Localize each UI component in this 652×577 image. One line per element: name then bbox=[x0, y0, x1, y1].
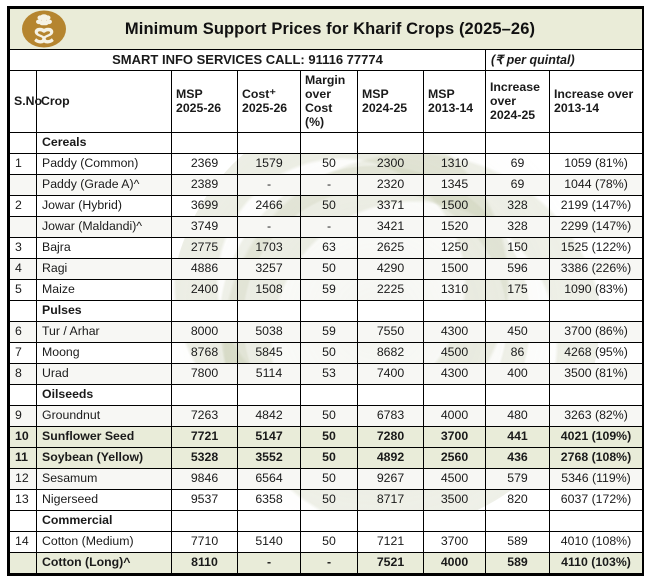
cell-sno: 6 bbox=[10, 321, 37, 342]
cell-sno: 10 bbox=[10, 426, 37, 447]
cell-empty bbox=[486, 132, 550, 153]
cell-increase-over-2013-14: 3700 (86%) bbox=[550, 321, 643, 342]
table-row: 8Urad7800511453740043004003500 (81%) bbox=[10, 363, 643, 384]
cell-increase-over-2013-14: 4110 (103%) bbox=[550, 552, 643, 573]
cell-crop: Moong bbox=[37, 342, 172, 363]
cell-empty bbox=[301, 300, 358, 321]
cell-empty bbox=[301, 384, 358, 405]
cell-msp-2025-26: 3749 bbox=[172, 216, 238, 237]
cell-msp-2013-14: 4300 bbox=[424, 363, 486, 384]
cell-msp-2025-26: 2369 bbox=[172, 153, 238, 174]
group-header-row: Commercial bbox=[10, 510, 643, 531]
cell-msp-2013-14: 3700 bbox=[424, 426, 486, 447]
cell-msp-2024-25: 4892 bbox=[358, 447, 424, 468]
cell-increase-over-2024-25: 328 bbox=[486, 195, 550, 216]
cell-msp-2024-25: 3421 bbox=[358, 216, 424, 237]
cell-msp-2024-25: 7121 bbox=[358, 531, 424, 552]
cell-sno: 8 bbox=[10, 363, 37, 384]
cell-sno: 4 bbox=[10, 258, 37, 279]
cell-sno bbox=[10, 552, 37, 573]
group-header-row: Pulses bbox=[10, 300, 643, 321]
table-row: 12Sesamum9846656450926745005795346 (119%… bbox=[10, 468, 643, 489]
cell-sno: 1 bbox=[10, 153, 37, 174]
cell-increase-over-2024-25: 436 bbox=[486, 447, 550, 468]
cell-margin-over-cost: 50 bbox=[301, 258, 358, 279]
cell-msp-2024-25: 2625 bbox=[358, 237, 424, 258]
table-row: Jowar (Maldandi)^3749--342115203282299 (… bbox=[10, 216, 643, 237]
cell-increase-over-2024-25: 69 bbox=[486, 174, 550, 195]
cell-cost-2025-26: - bbox=[238, 216, 301, 237]
table-row: 10Sunflower Seed772151475072803700441402… bbox=[10, 426, 643, 447]
cell-empty bbox=[172, 510, 238, 531]
cell-increase-over-2024-25: 400 bbox=[486, 363, 550, 384]
cell-empty bbox=[550, 384, 643, 405]
cell-msp-2013-14: 3700 bbox=[424, 531, 486, 552]
table-row: 13Nigerseed9537635850871735008206037 (17… bbox=[10, 489, 643, 510]
cell-margin-over-cost: 53 bbox=[301, 363, 358, 384]
cell-empty bbox=[358, 300, 424, 321]
cell-increase-over-2024-25: 450 bbox=[486, 321, 550, 342]
cell-msp-2025-26: 2400 bbox=[172, 279, 238, 300]
cell-crop: Ragi bbox=[37, 258, 172, 279]
cell-msp-2013-14: 1520 bbox=[424, 216, 486, 237]
cell-increase-over-2024-25: 820 bbox=[486, 489, 550, 510]
cell-crop: Maize bbox=[37, 279, 172, 300]
cell-margin-over-cost: 59 bbox=[301, 279, 358, 300]
cell-cost-2025-26: 5845 bbox=[238, 342, 301, 363]
cell-msp-2013-14: 4000 bbox=[424, 405, 486, 426]
cell-msp-2024-25: 9267 bbox=[358, 468, 424, 489]
cell-empty bbox=[358, 132, 424, 153]
cell-empty bbox=[358, 384, 424, 405]
cell-cost-2025-26: 1579 bbox=[238, 153, 301, 174]
cell-msp-2025-26: 9846 bbox=[172, 468, 238, 489]
header-crop: Crop bbox=[37, 71, 172, 133]
table-row: 6Tur / Arhar8000503859755043004503700 (8… bbox=[10, 321, 643, 342]
cell-msp-2013-14: 1310 bbox=[424, 279, 486, 300]
cell-msp-2013-14: 1345 bbox=[424, 174, 486, 195]
cell-sno bbox=[10, 384, 37, 405]
cell-msp-2024-25: 2300 bbox=[358, 153, 424, 174]
cell-cost-2025-26: 5038 bbox=[238, 321, 301, 342]
cell-margin-over-cost: - bbox=[301, 216, 358, 237]
cell-crop: Paddy (Common) bbox=[37, 153, 172, 174]
cell-increase-over-2024-25: 328 bbox=[486, 216, 550, 237]
cell-crop: Soybean (Yellow) bbox=[37, 447, 172, 468]
cell-empty bbox=[486, 510, 550, 531]
cell-msp-2013-14: 1310 bbox=[424, 153, 486, 174]
cell-margin-over-cost: 50 bbox=[301, 153, 358, 174]
cell-increase-over-2013-14: 1059 (81%) bbox=[550, 153, 643, 174]
cell-margin-over-cost: - bbox=[301, 552, 358, 573]
cell-cost-2025-26: - bbox=[238, 174, 301, 195]
cell-crop: Bajra bbox=[37, 237, 172, 258]
cell-empty bbox=[172, 384, 238, 405]
cell-cost-2025-26: 2466 bbox=[238, 195, 301, 216]
cell-msp-2024-25: 7521 bbox=[358, 552, 424, 573]
cell-cost-2025-26: 5114 bbox=[238, 363, 301, 384]
banner-row: Minimum Support Prices for Kharif Crops … bbox=[10, 9, 643, 50]
table-row: 7Moong876858455086824500864268 (95%) bbox=[10, 342, 643, 363]
header-msp-2024-25: MSP 2024-25 bbox=[358, 71, 424, 133]
cell-increase-over-2013-14: 3500 (81%) bbox=[550, 363, 643, 384]
cell-empty bbox=[424, 132, 486, 153]
cell-msp-2013-14: 2560 bbox=[424, 447, 486, 468]
cell-msp-2024-25: 8717 bbox=[358, 489, 424, 510]
cell-increase-over-2024-25: 596 bbox=[486, 258, 550, 279]
cell-crop: Sunflower Seed bbox=[37, 426, 172, 447]
cell-msp-2024-25: 4290 bbox=[358, 258, 424, 279]
cell-sno: 5 bbox=[10, 279, 37, 300]
table-row: 4Ragi4886325750429015005963386 (226%) bbox=[10, 258, 643, 279]
cell-crop: Groundnut bbox=[37, 405, 172, 426]
cell-msp-2025-26: 4886 bbox=[172, 258, 238, 279]
group-label: Cereals bbox=[37, 132, 172, 153]
table-row: 2Jowar (Hybrid)3699246650337115003282199… bbox=[10, 195, 643, 216]
cell-msp-2024-25: 6783 bbox=[358, 405, 424, 426]
table-body: Cereals1Paddy (Common)236915795023001310… bbox=[10, 132, 643, 573]
header-increase-over-2013-14: Increase over 2013-14 bbox=[550, 71, 643, 133]
cell-sno: 12 bbox=[10, 468, 37, 489]
cell-margin-over-cost: 50 bbox=[301, 342, 358, 363]
cell-sno bbox=[10, 132, 37, 153]
cell-empty bbox=[550, 132, 643, 153]
cell-sno bbox=[10, 174, 37, 195]
header-msp-2013-14: MSP 2013-14 bbox=[424, 71, 486, 133]
table-row: Cotton (Long)^8110--752140005894110 (103… bbox=[10, 552, 643, 573]
cell-msp-2025-26: 8110 bbox=[172, 552, 238, 573]
cell-increase-over-2013-14: 3386 (226%) bbox=[550, 258, 643, 279]
cell-msp-2025-26: 7710 bbox=[172, 531, 238, 552]
table-row: Paddy (Grade A)^2389--23201345691044 (78… bbox=[10, 174, 643, 195]
cell-msp-2024-25: 2225 bbox=[358, 279, 424, 300]
cell-msp-2013-14: 1500 bbox=[424, 258, 486, 279]
table-row: 11Soybean (Yellow)5328355250489225604362… bbox=[10, 447, 643, 468]
cell-increase-over-2024-25: 441 bbox=[486, 426, 550, 447]
cell-crop: Nigerseed bbox=[37, 489, 172, 510]
group-label: Commercial bbox=[37, 510, 172, 531]
cell-msp-2025-26: 2389 bbox=[172, 174, 238, 195]
cell-sno bbox=[10, 300, 37, 321]
cell-margin-over-cost: 63 bbox=[301, 237, 358, 258]
banner-cell: Minimum Support Prices for Kharif Crops … bbox=[10, 9, 643, 50]
cell-increase-over-2024-25: 150 bbox=[486, 237, 550, 258]
cell-cost-2025-26: 6564 bbox=[238, 468, 301, 489]
cell-msp-2024-25: 7550 bbox=[358, 321, 424, 342]
cell-sno: 11 bbox=[10, 447, 37, 468]
header-msp-2025-26: MSP 2025-26 bbox=[172, 71, 238, 133]
cell-increase-over-2013-14: 1044 (78%) bbox=[550, 174, 643, 195]
cell-msp-2024-25: 8682 bbox=[358, 342, 424, 363]
cell-cost-2025-26: 1508 bbox=[238, 279, 301, 300]
cell-msp-2013-14: 1500 bbox=[424, 195, 486, 216]
group-label: Pulses bbox=[37, 300, 172, 321]
cell-increase-over-2013-14: 4268 (95%) bbox=[550, 342, 643, 363]
cell-crop: Sesamum bbox=[37, 468, 172, 489]
cell-crop: Jowar (Maldandi)^ bbox=[37, 216, 172, 237]
cell-increase-over-2013-14: 5346 (119%) bbox=[550, 468, 643, 489]
cell-sno bbox=[10, 216, 37, 237]
cell-empty bbox=[486, 300, 550, 321]
cell-increase-over-2013-14: 6037 (172%) bbox=[550, 489, 643, 510]
cell-increase-over-2013-14: 1525 (122%) bbox=[550, 237, 643, 258]
msp-table-sheet: Minimum Support Prices for Kharif Crops … bbox=[7, 6, 644, 576]
cell-cost-2025-26: - bbox=[238, 552, 301, 573]
cell-crop: Jowar (Hybrid) bbox=[37, 195, 172, 216]
cell-increase-over-2013-14: 2199 (147%) bbox=[550, 195, 643, 216]
cell-empty bbox=[486, 384, 550, 405]
cell-cost-2025-26: 3257 bbox=[238, 258, 301, 279]
cell-msp-2025-26: 8000 bbox=[172, 321, 238, 342]
cell-empty bbox=[424, 300, 486, 321]
cell-msp-2025-26: 2775 bbox=[172, 237, 238, 258]
cell-msp-2013-14: 1250 bbox=[424, 237, 486, 258]
cell-margin-over-cost: 50 bbox=[301, 195, 358, 216]
cell-sno: 2 bbox=[10, 195, 37, 216]
cell-cost-2025-26: 1703 bbox=[238, 237, 301, 258]
cell-msp-2025-26: 8768 bbox=[172, 342, 238, 363]
table-row: 1Paddy (Common)236915795023001310691059 … bbox=[10, 153, 643, 174]
cell-margin-over-cost: - bbox=[301, 174, 358, 195]
table-row: 3Bajra2775170363262512501501525 (122%) bbox=[10, 237, 643, 258]
cell-empty bbox=[301, 132, 358, 153]
cell-sno bbox=[10, 510, 37, 531]
cell-empty bbox=[172, 132, 238, 153]
msp-table: Minimum Support Prices for Kharif Crops … bbox=[9, 8, 643, 574]
cell-msp-2013-14: 3500 bbox=[424, 489, 486, 510]
cell-increase-over-2013-14: 3263 (82%) bbox=[550, 405, 643, 426]
cell-msp-2025-26: 7721 bbox=[172, 426, 238, 447]
cell-increase-over-2024-25: 589 bbox=[486, 531, 550, 552]
cell-msp-2025-26: 7263 bbox=[172, 405, 238, 426]
cell-msp-2025-26: 7800 bbox=[172, 363, 238, 384]
cell-msp-2024-25: 3371 bbox=[358, 195, 424, 216]
cell-increase-over-2024-25: 589 bbox=[486, 552, 550, 573]
contact-text: SMART INFO SERVICES CALL: 91116 77774 bbox=[10, 50, 486, 71]
cell-cost-2025-26: 5147 bbox=[238, 426, 301, 447]
cell-sno: 9 bbox=[10, 405, 37, 426]
cell-sno: 14 bbox=[10, 531, 37, 552]
header-margin-over-cost: Margin over Cost (%) bbox=[301, 71, 358, 133]
cell-msp-2013-14: 4500 bbox=[424, 468, 486, 489]
column-header-row: S.No Crop MSP 2025-26 Cost⁺ 2025-26 Marg… bbox=[10, 71, 643, 133]
cell-margin-over-cost: 50 bbox=[301, 468, 358, 489]
cell-increase-over-2013-14: 1090 (83%) bbox=[550, 279, 643, 300]
header-sno: S.No bbox=[10, 71, 37, 133]
cell-msp-2024-25: 7400 bbox=[358, 363, 424, 384]
cell-empty bbox=[550, 510, 643, 531]
table-row: 5Maize2400150859222513101751090 (83%) bbox=[10, 279, 643, 300]
cell-sno: 3 bbox=[10, 237, 37, 258]
cell-msp-2025-26: 5328 bbox=[172, 447, 238, 468]
cell-margin-over-cost: 50 bbox=[301, 447, 358, 468]
cell-crop: Cotton (Long)^ bbox=[37, 552, 172, 573]
cell-cost-2025-26: 3552 bbox=[238, 447, 301, 468]
cell-increase-over-2013-14: 4010 (108%) bbox=[550, 531, 643, 552]
cell-empty bbox=[238, 132, 301, 153]
cell-empty bbox=[238, 510, 301, 531]
cell-margin-over-cost: 50 bbox=[301, 531, 358, 552]
cell-margin-over-cost: 50 bbox=[301, 405, 358, 426]
cell-empty bbox=[358, 510, 424, 531]
cell-empty bbox=[424, 384, 486, 405]
header-cost-2025-26: Cost⁺ 2025-26 bbox=[238, 71, 301, 133]
group-label: Oilseeds bbox=[37, 384, 172, 405]
table-row: 14Cotton (Medium)77105140507121370058940… bbox=[10, 531, 643, 552]
cell-msp-2013-14: 4500 bbox=[424, 342, 486, 363]
cell-empty bbox=[550, 300, 643, 321]
cell-msp-2025-26: 3699 bbox=[172, 195, 238, 216]
cell-increase-over-2024-25: 69 bbox=[486, 153, 550, 174]
cell-empty bbox=[238, 384, 301, 405]
page-title: Minimum Support Prices for Kharif Crops … bbox=[78, 20, 642, 39]
cell-msp-2025-26: 9537 bbox=[172, 489, 238, 510]
cell-crop: Cotton (Medium) bbox=[37, 531, 172, 552]
cell-cost-2025-26: 4842 bbox=[238, 405, 301, 426]
table-row: 9Groundnut7263484250678340004803263 (82%… bbox=[10, 405, 643, 426]
cell-margin-over-cost: 59 bbox=[301, 321, 358, 342]
cell-increase-over-2013-14: 4021 (109%) bbox=[550, 426, 643, 447]
cell-increase-over-2024-25: 480 bbox=[486, 405, 550, 426]
cell-msp-2024-25: 7280 bbox=[358, 426, 424, 447]
header-increase-over-2024-25: Increase over 2024-25 bbox=[486, 71, 550, 133]
cell-cost-2025-26: 5140 bbox=[238, 531, 301, 552]
cell-increase-over-2024-25: 86 bbox=[486, 342, 550, 363]
cell-empty bbox=[172, 300, 238, 321]
cell-cost-2025-26: 6358 bbox=[238, 489, 301, 510]
group-header-row: Cereals bbox=[10, 132, 643, 153]
cell-crop: Urad bbox=[37, 363, 172, 384]
cell-increase-over-2013-14: 2299 (147%) bbox=[550, 216, 643, 237]
cell-margin-over-cost: 50 bbox=[301, 426, 358, 447]
cell-empty bbox=[301, 510, 358, 531]
cell-msp-2013-14: 4300 bbox=[424, 321, 486, 342]
unit-note: (₹ per quintal) bbox=[486, 50, 643, 71]
cell-crop: Paddy (Grade A)^ bbox=[37, 174, 172, 195]
cell-sno: 7 bbox=[10, 342, 37, 363]
subtitle-row: SMART INFO SERVICES CALL: 91116 77774 (₹… bbox=[10, 50, 643, 71]
cell-increase-over-2013-14: 2768 (108%) bbox=[550, 447, 643, 468]
cell-msp-2013-14: 4000 bbox=[424, 552, 486, 573]
cell-increase-over-2024-25: 579 bbox=[486, 468, 550, 489]
group-header-row: Oilseeds bbox=[10, 384, 643, 405]
sis-logo bbox=[10, 10, 78, 48]
cell-crop: Tur / Arhar bbox=[37, 321, 172, 342]
cell-empty bbox=[424, 510, 486, 531]
cell-increase-over-2024-25: 175 bbox=[486, 279, 550, 300]
cell-margin-over-cost: 50 bbox=[301, 489, 358, 510]
cell-msp-2024-25: 2320 bbox=[358, 174, 424, 195]
cell-sno: 13 bbox=[10, 489, 37, 510]
cell-empty bbox=[238, 300, 301, 321]
